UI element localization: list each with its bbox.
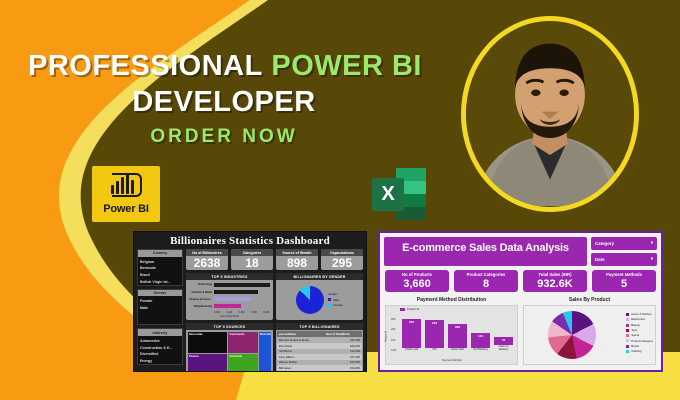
chart-title: Sales By Product (523, 297, 656, 303)
headline-developer: DEVELOPER (132, 86, 315, 118)
kpi-value: 3,660 (385, 278, 449, 290)
kpi-value: 898 (276, 256, 318, 270)
bar-plot-area: Product ID 300 200 100 0.0K 252 Credit C… (385, 305, 518, 365)
axis-tick: 0.0M (214, 311, 220, 314)
bar-value: 248 (425, 321, 444, 325)
kpi-card: Organizations 295 (321, 249, 363, 270)
chart-title: Payment Method Distribution (385, 297, 518, 303)
kpi-value: 295 (321, 256, 363, 270)
cell-name: Total (277, 371, 324, 372)
slicer-item[interactable]: Brazil (140, 272, 180, 279)
axis-tick: 200 (391, 328, 396, 331)
bar-category: Credit Card (405, 349, 418, 352)
axis-tick: 0.1M (226, 311, 232, 314)
axis-tick: 100 (391, 339, 396, 342)
axis-tick: 0.2M (239, 311, 245, 314)
slicer-industry-header: Industry (138, 329, 182, 336)
treemap-tile[interactable]: Consumer (228, 354, 257, 372)
kpi-card: Product Categories 8 (454, 270, 518, 293)
billionaires-dashboard[interactable]: Billionaires Statistics Dashboard Countr… (133, 231, 367, 372)
pie-chart (548, 311, 596, 359)
chart-billionaires-by-gender[interactable]: BILLIONAIRES BY GENDER Gender Male Femal… (276, 273, 363, 320)
slicer-item[interactable]: Male (140, 305, 180, 312)
slicer-gender-header: Gender (138, 290, 182, 297)
slicer-item[interactable]: Belgium (140, 259, 180, 266)
kpi-label: Organizations (321, 249, 363, 256)
pie-legend: Home & Kitchen Electronics Beauty Toys S… (626, 312, 653, 355)
bar-category: Debit Card (451, 349, 463, 352)
bar-item[interactable]: 72 Cash on Delivery (494, 318, 513, 352)
slicer-label: Category (595, 241, 614, 246)
bar (214, 290, 258, 294)
axis-tick: 0.3M (251, 311, 257, 314)
pie-container (528, 310, 615, 360)
legend-label: Clothing (631, 349, 641, 353)
kpi-card: Total Sales (INR) 932.6K (523, 270, 587, 293)
axis-tick: 0.4M (263, 311, 269, 314)
kpi-card: No of Products 3,660 (385, 270, 449, 293)
headline-powerbi: POWER BI (271, 50, 422, 82)
y-axis-label: Product ID (385, 331, 388, 342)
bar-value: 72 (494, 338, 513, 342)
chart-title: TOP 5 SOURCES (186, 323, 273, 330)
legend-label: Female (333, 303, 342, 307)
chart-title: TOP 5 INDUSTRIES (186, 273, 273, 280)
x-axis-ticks: 0.0M 0.1M 0.2M 0.3M 0.4M (188, 311, 271, 314)
ecommerce-dashboard[interactable]: E-commerce Sales Data Analysis Category … (378, 231, 663, 372)
treemap-tile[interactable]: Investments (228, 332, 257, 353)
bar-series: 252 Credit Card 248 UPI 208 Debit Card (402, 318, 513, 352)
axis-label: Sum of Net Worth (188, 315, 271, 318)
chart-legend: Product ID (400, 308, 419, 311)
pie-legend: Gender Male Female (328, 292, 342, 308)
data-table: personName Sum of finalWorth Bernard Arn… (277, 331, 362, 372)
table-top-billionaires[interactable]: TOP 5 BILLIONAIRES personName Sum of fin… (276, 323, 363, 372)
slicer-industry[interactable]: Industry Automotive Construction & E... … (137, 328, 183, 365)
kpi-value: 18 (231, 256, 273, 270)
kpi-label: Source of Wealth (276, 249, 318, 256)
axis-tick: 300 (391, 318, 396, 321)
headline-line-1: PROFESSIONAL POWER BI (28, 52, 420, 82)
legend-label: Beauty (631, 323, 640, 327)
legend-label: Product ID (407, 308, 419, 311)
pie-chart (296, 286, 324, 314)
kpi-card: Payment Methods 5 (592, 270, 656, 293)
kpi-value: 932.6K (523, 278, 587, 290)
bar-item[interactable]: 134 Net Banking (471, 318, 490, 352)
bar-label: Finance & Invest... (188, 298, 212, 301)
excel-logo: X (372, 166, 426, 222)
bar-label: Manufacturing (188, 305, 212, 308)
bar: 248 (425, 320, 444, 348)
legend-label: Home & Kitchen (631, 312, 651, 316)
kpi-label: Total Sales (INR) (523, 270, 587, 279)
legend-label: Product Category (631, 339, 653, 343)
legend-label: Sports (631, 333, 639, 337)
slicer-item[interactable]: Construction & E... (140, 345, 180, 352)
kpi-label: Product Categories (454, 270, 518, 279)
kpi-label: No of Billionaires (186, 249, 228, 256)
legend-label: Male (333, 298, 339, 302)
treemap-tile[interactable]: Finance (188, 354, 227, 372)
bar-category: Cash on Delivery (494, 346, 513, 352)
slicer-label: Date (595, 257, 605, 262)
bar-category: Net Banking (473, 349, 487, 352)
slicer-date[interactable]: Date ▾ (591, 253, 657, 266)
chart-sales-by-product[interactable]: Sales By Product Home & Kitchen Electron… (523, 297, 656, 365)
slicer-item[interactable]: Energy (140, 358, 180, 365)
bar-item[interactable]: 208 Debit Card (448, 318, 467, 352)
ecommerce-title: E-commerce Sales Data Analysis (384, 237, 587, 266)
chevron-down-icon[interactable]: ▾ (651, 256, 653, 262)
slicer-item[interactable]: Bermuda (140, 265, 180, 272)
legend-item: Clothing (626, 349, 653, 354)
bar: 72 (494, 337, 513, 345)
kpi-card: No of Billionaires 2638 (186, 249, 228, 270)
slicer-country[interactable]: Country Belgium Bermuda Brazil British V… (137, 249, 183, 286)
billionaires-title: Billionaires Statistics Dashboard (134, 232, 366, 249)
kpi-label: Payment Methods (592, 270, 656, 279)
legend-label: Electronics (631, 317, 645, 321)
power-bi-logo: Power BI (92, 166, 160, 222)
cell-value: 822,000 (324, 371, 362, 372)
bar-value: 252 (402, 320, 421, 324)
treemap-tile[interactable]: Real estate (188, 332, 227, 353)
chevron-down-icon[interactable]: ▾ (651, 240, 653, 246)
headline-professional: PROFESSIONAL (28, 50, 263, 82)
kpi-value: 8 (454, 278, 518, 290)
axis-tick: 0.0K (391, 349, 396, 352)
bar: 252 (402, 319, 421, 348)
slicer-country-header: Country (138, 250, 182, 257)
kpi-card: Source of Wealth 898 (276, 249, 318, 270)
bar-label: Technology (188, 283, 212, 286)
headline-line-2: DEVELOPER (28, 88, 420, 118)
chart-title: BILLIONAIRES BY GENDER (276, 273, 363, 280)
slicer-gender[interactable]: Gender Female Male (137, 289, 183, 326)
bar-category: UPI (432, 349, 436, 352)
slicer-item[interactable]: Female (140, 298, 180, 305)
power-bi-icon (106, 174, 146, 200)
bar-label: Fashion & Retail (188, 291, 212, 294)
treemap: Real estate Investments Diversified Fina… (188, 332, 271, 372)
legend-label: Books (631, 344, 639, 348)
bar-value: 134 (471, 334, 490, 338)
kpi-card: Categories 18 (231, 249, 273, 270)
slicer-category[interactable]: Category ▾ (591, 237, 657, 250)
y-axis-ticks: 300 200 100 0.0K (391, 318, 396, 352)
chart-payment-method-distribution[interactable]: Payment Method Distribution Product ID 3… (385, 297, 518, 365)
x-axis-label: Payment Method (386, 359, 517, 362)
chart-top-industries[interactable]: TOP 5 INDUSTRIES Technology Fashion & Re… (186, 273, 273, 320)
bar-value: 208 (448, 325, 467, 329)
legend-item: Female (328, 303, 342, 308)
treemap-tile[interactable]: Diversified (259, 332, 271, 372)
slicer-item[interactable]: Automotive (140, 338, 180, 345)
kpi-value: 5 (592, 278, 656, 290)
bar: 134 (471, 333, 490, 348)
avatar (461, 16, 639, 212)
power-bi-logo-text: Power BI (103, 203, 148, 215)
slicer-item[interactable]: British Virgin Isl... (140, 279, 180, 286)
bar (214, 283, 270, 287)
excel-x-letter: X (372, 178, 404, 211)
kpi-value: 2638 (186, 256, 228, 270)
order-now-cta[interactable]: ORDER NOW (28, 127, 420, 146)
legend-label: Toys (631, 328, 637, 332)
headline-block: PROFESSIONAL POWER BI DEVELOPER ORDER NO… (28, 52, 420, 147)
kpi-label: Categories (231, 249, 273, 256)
chart-title: TOP 5 BILLIONAIRES (276, 323, 363, 330)
table-total-row: Total822,000 (277, 371, 362, 372)
kpi-label: No of Products (385, 270, 449, 279)
bar: 208 (448, 324, 467, 347)
chart-top-sources[interactable]: TOP 5 SOURCES Real estate Investments Di… (186, 323, 273, 372)
bar-item[interactable]: 252 Credit Card (402, 318, 421, 352)
pie-plot-area: Home & Kitchen Electronics Beauty Toys S… (523, 305, 656, 365)
bar (214, 297, 251, 301)
portrait-photo (466, 21, 634, 206)
bar-item[interactable]: 248 UPI (425, 318, 444, 352)
bar (214, 304, 241, 308)
banner-stage: PROFESSIONAL POWER BI DEVELOPER ORDER NO… (0, 0, 680, 400)
slicer-item[interactable]: Diversified (140, 351, 180, 358)
